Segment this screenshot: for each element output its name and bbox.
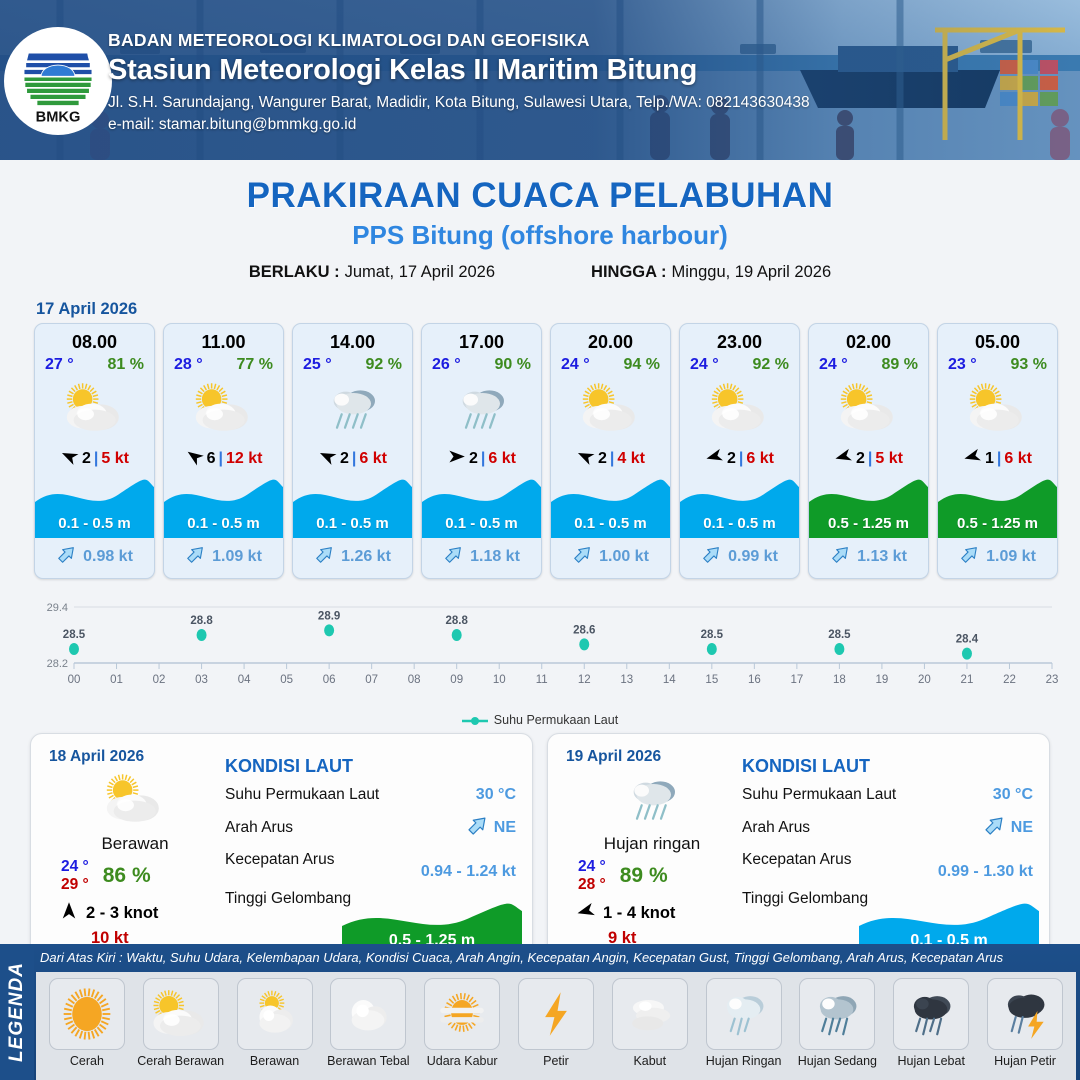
legend-item: Cerah bbox=[40, 978, 134, 1068]
wind-direction-arrow-icon bbox=[834, 447, 853, 471]
legend-side-title: LEGENDA bbox=[0, 944, 34, 1080]
day-condition: Berawan bbox=[49, 834, 221, 854]
card-temp-hum: 24 ° 89 % bbox=[809, 353, 928, 374]
wind-direction-value: 2 bbox=[727, 450, 736, 468]
day-temp-max: 29 ° bbox=[61, 876, 89, 894]
wind-direction-value: 6 bbox=[207, 450, 216, 468]
wind-direction-arrow-icon bbox=[447, 447, 466, 471]
wave-height-value: 0.5 - 1.25 m bbox=[938, 515, 1057, 532]
day-wind-range: 1 - 4 knot bbox=[603, 904, 675, 923]
current-speed-value: 1.26 kt bbox=[341, 548, 391, 566]
card-temperature: 23 ° bbox=[948, 356, 977, 374]
card-time: 20.00 bbox=[551, 332, 670, 353]
svg-text:09: 09 bbox=[450, 674, 463, 686]
svg-text:20: 20 bbox=[918, 674, 931, 686]
wind-separator: | bbox=[610, 450, 614, 468]
bmkg-logo-icon: BMKG bbox=[15, 38, 101, 124]
legend-sun-cloud-more-icon bbox=[237, 978, 313, 1050]
legend-item-label: Cerah bbox=[70, 1054, 104, 1068]
card-temp-hum: 28 ° 77 % bbox=[164, 353, 283, 374]
day-temp-min: 24 ° bbox=[61, 858, 89, 876]
weather-sun-cloud-icon bbox=[680, 376, 799, 440]
svg-text:19: 19 bbox=[876, 674, 889, 686]
berlaku-label: BERLAKU : bbox=[249, 263, 340, 281]
bmkg-logo: BMKG bbox=[4, 27, 112, 135]
card-temperature: 28 ° bbox=[174, 356, 203, 374]
wind-separator: | bbox=[481, 450, 485, 468]
current-direction-arrow-icon bbox=[983, 813, 1007, 842]
svg-text:13: 13 bbox=[620, 674, 633, 686]
sst-chart-svg: 29.428.200010203040506070809101112131415… bbox=[22, 593, 1058, 711]
card-wind: 2 | 5 kt bbox=[35, 446, 154, 472]
legend-item: Hujan Ringan bbox=[697, 978, 791, 1068]
card-time: 05.00 bbox=[938, 332, 1057, 353]
current-speed-value: 0.98 kt bbox=[83, 548, 133, 566]
card-temp-hum: 24 ° 92 % bbox=[680, 353, 799, 374]
sst-chart: 29.428.200010203040506070809101112131415… bbox=[22, 593, 1058, 711]
card-current: 1.18 kt bbox=[422, 543, 541, 570]
current-direction-value: NE bbox=[494, 819, 516, 837]
berlaku-group: BERLAKU :Jumat, 17 April 2026 bbox=[249, 263, 495, 282]
card-current: 1.26 kt bbox=[293, 543, 412, 570]
card-humidity: 81 % bbox=[108, 356, 144, 374]
forecast-card: 08.00 27 ° 81 % 2 | 5 kt 0.1 - 0.5 m bbox=[34, 323, 155, 579]
wind-gust-value: 6 kt bbox=[746, 450, 774, 468]
current-speed-value: 1.18 kt bbox=[470, 548, 520, 566]
day-humidity: 89 % bbox=[620, 864, 668, 888]
current-speed-value: 0.99 - 1.30 kt bbox=[938, 863, 1033, 880]
wind-direction-value: 2 bbox=[598, 450, 607, 468]
wind-direction-value: 1 bbox=[985, 450, 994, 468]
forecast-card: 17.00 26 ° 90 % 2 | 6 kt 0.1 - 0.5 m 1 bbox=[421, 323, 542, 579]
current-direction-label: Arah Arus bbox=[225, 819, 293, 837]
card-humidity: 92 % bbox=[753, 356, 789, 374]
legend-item-label: Hujan Sedang bbox=[798, 1054, 877, 1068]
wind-separator: | bbox=[218, 450, 222, 468]
card-humidity: 94 % bbox=[624, 356, 660, 374]
current-speed-value: 0.99 kt bbox=[728, 548, 778, 566]
current-speed-value: 0.94 - 1.24 kt bbox=[421, 863, 516, 880]
forecast-card: 23.00 24 ° 92 % 2 | 6 kt 0.1 - 0.5 m bbox=[679, 323, 800, 579]
legend-side-title-text: LEGENDA bbox=[6, 962, 28, 1062]
card-wind: 2 | 6 kt bbox=[293, 446, 412, 472]
card-temp-hum: 25 ° 92 % bbox=[293, 353, 412, 374]
current-direction-arrow-icon bbox=[443, 543, 465, 570]
legend-light-rain-icon bbox=[706, 978, 782, 1050]
current-speed-value: 1.09 kt bbox=[986, 548, 1036, 566]
current-speed-label: Kecepatan Arus bbox=[225, 851, 334, 869]
day-temp-min: 24 ° bbox=[578, 858, 606, 876]
card-time: 23.00 bbox=[680, 332, 799, 353]
forecast-card-row: 08.00 27 ° 81 % 2 | 5 kt 0.1 - 0.5 m bbox=[0, 323, 1080, 579]
legend-item-label: Hujan Lebat bbox=[898, 1054, 965, 1068]
svg-text:23: 23 bbox=[1046, 674, 1058, 686]
svg-text:03: 03 bbox=[195, 674, 208, 686]
day-wind: 1 - 4 knot bbox=[566, 901, 738, 926]
hingga-label: HINGGA : bbox=[591, 263, 666, 281]
card-humidity: 93 % bbox=[1011, 356, 1047, 374]
svg-text:18: 18 bbox=[833, 674, 846, 686]
day-summary-row: 18 April 2026 Berawan 24 ° 29 ° 86 % bbox=[0, 727, 1080, 981]
legend-item: Cerah Berawan bbox=[134, 978, 228, 1068]
svg-text:28.8: 28.8 bbox=[446, 615, 469, 627]
day-temp-max: 28 ° bbox=[578, 876, 606, 894]
wind-separator: | bbox=[352, 450, 356, 468]
wave-height-value: 0.1 - 0.5 m bbox=[551, 515, 670, 532]
card-time: 17.00 bbox=[422, 332, 541, 353]
card-humidity: 77 % bbox=[237, 356, 273, 374]
svg-text:04: 04 bbox=[238, 674, 251, 686]
legend-fog-icon bbox=[612, 978, 688, 1050]
card-wind: 2 | 5 kt bbox=[809, 446, 928, 472]
weather-sun-cloud-icon bbox=[49, 768, 221, 830]
sst-value: 30 °C bbox=[993, 786, 1033, 804]
wind-gust-value: 5 kt bbox=[875, 450, 903, 468]
wind-direction-arrow-icon bbox=[59, 901, 79, 926]
legend-sun-icon bbox=[49, 978, 125, 1050]
legend-item-label: Udara Kabur bbox=[427, 1054, 498, 1068]
card-current: 1.09 kt bbox=[164, 543, 283, 570]
current-direction-arrow-icon bbox=[830, 543, 852, 570]
legend-item-label: Hujan Petir bbox=[994, 1054, 1056, 1068]
legend-haze-icon bbox=[424, 978, 500, 1050]
legend-heavy-rain-icon bbox=[893, 978, 969, 1050]
svg-text:12: 12 bbox=[578, 674, 591, 686]
legend-lightning-icon bbox=[518, 978, 594, 1050]
wind-separator: | bbox=[868, 450, 872, 468]
svg-text:28.2: 28.2 bbox=[47, 658, 68, 670]
legend-item: Hujan Sedang bbox=[791, 978, 885, 1068]
svg-text:28.4: 28.4 bbox=[956, 634, 979, 646]
card-wind: 2 | 4 kt bbox=[551, 446, 670, 472]
wave-height-value: 0.1 - 0.5 m bbox=[680, 515, 799, 532]
current-speed-value: 1.00 kt bbox=[599, 548, 649, 566]
card-wind: 2 | 6 kt bbox=[422, 446, 541, 472]
wind-direction-arrow-icon bbox=[60, 447, 79, 471]
svg-text:05: 05 bbox=[280, 674, 293, 686]
card-current: 0.98 kt bbox=[35, 543, 154, 570]
validity-row: BERLAKU :Jumat, 17 April 2026 HINGGA :Mi… bbox=[0, 263, 1080, 282]
card-time: 08.00 bbox=[35, 332, 154, 353]
svg-text:28.5: 28.5 bbox=[701, 629, 724, 641]
wave-height-value: 0.1 - 0.5 m bbox=[422, 515, 541, 532]
sst-row: Suhu Permukaan Laut 30 °C bbox=[742, 786, 1033, 804]
hingga-value: Minggu, 19 April 2026 bbox=[672, 263, 832, 281]
wave-height-value: 0.1 - 0.5 m bbox=[293, 515, 412, 532]
sea-conditions-title: KONDISI LAUT bbox=[742, 756, 1033, 777]
svg-text:17: 17 bbox=[790, 674, 803, 686]
svg-text:08: 08 bbox=[408, 674, 421, 686]
wind-gust-value: 5 kt bbox=[101, 450, 129, 468]
hingga-group: HINGGA :Minggu, 19 April 2026 bbox=[591, 263, 831, 282]
wave-height-value: 0.1 - 0.5 m bbox=[164, 515, 283, 532]
day-condition: Hujan ringan bbox=[566, 834, 738, 854]
wind-separator: | bbox=[94, 450, 98, 468]
svg-text:02: 02 bbox=[153, 674, 166, 686]
card-temperature: 24 ° bbox=[561, 356, 590, 374]
day-date: 18 April 2026 bbox=[49, 748, 221, 766]
legend-item-label: Berawan Tebal bbox=[327, 1054, 409, 1068]
card-time: 14.00 bbox=[293, 332, 412, 353]
legend-cloud-icon bbox=[330, 978, 406, 1050]
current-speed-label: Kecepatan Arus bbox=[742, 851, 851, 869]
weather-sun-cloud-icon bbox=[938, 376, 1057, 440]
legend-item: Hujan Petir bbox=[978, 978, 1072, 1068]
card-temperature: 24 ° bbox=[819, 356, 848, 374]
card-time: 02.00 bbox=[809, 332, 928, 353]
card-wind: 6 | 12 kt bbox=[164, 446, 283, 472]
chart-legend-label: Suhu Permukaan Laut bbox=[494, 713, 618, 727]
legend-item: Berawan Tebal bbox=[321, 978, 415, 1068]
current-direction-label: Arah Arus bbox=[742, 819, 810, 837]
svg-text:28.8: 28.8 bbox=[190, 615, 213, 627]
legend-moderate-rain-icon bbox=[799, 978, 875, 1050]
legend-sun-cloud-icon bbox=[143, 978, 219, 1050]
legend-item: Berawan bbox=[228, 978, 322, 1068]
current-direction-row: Arah Arus NE bbox=[742, 813, 1033, 842]
chart-legend-marker bbox=[462, 715, 488, 725]
wave-height-label: Tinggi Gelombang bbox=[225, 890, 351, 908]
card-current: 1.00 kt bbox=[551, 543, 670, 570]
svg-text:28.6: 28.6 bbox=[573, 624, 595, 636]
weather-sun-cloud-icon bbox=[164, 376, 283, 440]
legend-item-label: Petir bbox=[543, 1054, 569, 1068]
current-direction-group: NE bbox=[983, 813, 1033, 842]
sst-row: Suhu Permukaan Laut 30 °C bbox=[225, 786, 516, 804]
wind-gust-value: 12 kt bbox=[226, 450, 262, 468]
legend-item: Hujan Lebat bbox=[884, 978, 978, 1068]
current-speed-value: 1.09 kt bbox=[212, 548, 262, 566]
station-email: e-mail: stamar.bitung@bmmkg.go.id bbox=[108, 116, 810, 134]
page-subtitle: PPS Bitung (offshore harbour) bbox=[0, 220, 1080, 251]
forecast-card: 20.00 24 ° 94 % 2 | 4 kt 0.1 - 0.5 m bbox=[550, 323, 671, 579]
legend-item-label: Hujan Ringan bbox=[706, 1054, 782, 1068]
card-temperature: 24 ° bbox=[690, 356, 719, 374]
current-direction-arrow-icon bbox=[701, 543, 723, 570]
svg-text:14: 14 bbox=[663, 674, 676, 686]
svg-text:28.5: 28.5 bbox=[63, 629, 86, 641]
wave-height-label: Tinggi Gelombang bbox=[742, 890, 868, 908]
card-temp-hum: 23 ° 93 % bbox=[938, 353, 1057, 374]
wind-direction-value: 2 bbox=[340, 450, 349, 468]
legend-item-label: Berawan bbox=[250, 1054, 299, 1068]
station-address: Jl. S.H. Sarundajang, Wangurer Barat, Ma… bbox=[108, 94, 810, 112]
current-direction-arrow-icon bbox=[314, 543, 336, 570]
legend-item-label: Cerah Berawan bbox=[137, 1054, 224, 1068]
page-title: PRAKIRAAN CUACA PELABUHAN bbox=[0, 176, 1080, 216]
wind-direction-value: 2 bbox=[856, 450, 865, 468]
card-humidity: 90 % bbox=[495, 356, 531, 374]
legend-item: Kabut bbox=[603, 978, 697, 1068]
card-humidity: 92 % bbox=[366, 356, 402, 374]
header-text-block: BADAN METEOROLOGI KLIMATOLOGI DAN GEOFIS… bbox=[108, 30, 810, 134]
wind-direction-arrow-icon bbox=[963, 447, 982, 471]
wind-gust-value: 4 kt bbox=[617, 450, 645, 468]
card-temp-hum: 26 ° 90 % bbox=[422, 353, 541, 374]
agency-name: BADAN METEOROLOGI KLIMATOLOGI DAN GEOFIS… bbox=[108, 30, 810, 51]
day-temp-column: 24 ° 28 ° bbox=[578, 858, 606, 894]
card-temperature: 25 ° bbox=[303, 356, 332, 374]
card-wind: 1 | 6 kt bbox=[938, 446, 1057, 472]
wind-direction-arrow-icon bbox=[185, 447, 204, 471]
day-humidity: 86 % bbox=[103, 864, 151, 888]
svg-text:22: 22 bbox=[1003, 674, 1016, 686]
current-direction-arrow-icon bbox=[466, 813, 490, 842]
current-direction-arrow-icon bbox=[185, 543, 207, 570]
legend-item-label: Kabut bbox=[633, 1054, 666, 1068]
day-date: 19 April 2026 bbox=[566, 748, 738, 766]
card-current: 1.13 kt bbox=[809, 543, 928, 570]
wind-gust-value: 6 kt bbox=[488, 450, 516, 468]
svg-text:28.5: 28.5 bbox=[828, 629, 851, 641]
legend-item-row: Cerah Cerah Berawan Berawan Berawan Teba… bbox=[36, 972, 1076, 1080]
svg-text:21: 21 bbox=[961, 674, 974, 686]
current-direction-arrow-icon bbox=[959, 543, 981, 570]
sst-label: Suhu Permukaan Laut bbox=[742, 786, 896, 804]
wind-direction-arrow-icon bbox=[576, 447, 595, 471]
current-direction-row: Arah Arus NE bbox=[225, 813, 516, 842]
wind-direction-arrow-icon bbox=[318, 447, 337, 471]
sst-label: Suhu Permukaan Laut bbox=[225, 786, 379, 804]
svg-text:29.4: 29.4 bbox=[47, 602, 68, 614]
current-direction-group: NE bbox=[466, 813, 516, 842]
wind-direction-arrow-icon bbox=[576, 901, 596, 926]
chart-legend: Suhu Permukaan Laut bbox=[0, 713, 1080, 727]
legend-note: Dari Atas Kiri : Waktu, Suhu Udara, Kele… bbox=[40, 950, 1074, 965]
svg-text:11: 11 bbox=[536, 674, 548, 686]
card-temperature: 27 ° bbox=[45, 356, 74, 374]
forecast-card: 11.00 28 ° 77 % 6 | 12 kt 0.1 - 0.5 m bbox=[163, 323, 284, 579]
current-direction-value: NE bbox=[1011, 819, 1033, 837]
svg-text:10: 10 bbox=[493, 674, 506, 686]
current-speed-value: 1.13 kt bbox=[857, 548, 907, 566]
card-current: 1.09 kt bbox=[938, 543, 1057, 570]
legend-thunderstorm-icon bbox=[987, 978, 1063, 1050]
weather-sun-cloud-icon bbox=[35, 376, 154, 440]
svg-text:07: 07 bbox=[365, 674, 378, 686]
forecast-card: 05.00 23 ° 93 % 1 | 6 kt 0.5 - 1.25 m bbox=[937, 323, 1058, 579]
day-wind: 2 - 3 knot bbox=[49, 901, 221, 926]
day-temps: 24 ° 28 ° 89 % bbox=[566, 858, 738, 894]
wind-separator: | bbox=[739, 450, 743, 468]
wind-direction-value: 2 bbox=[82, 450, 91, 468]
wind-separator: | bbox=[997, 450, 1001, 468]
page-header: BMKG BADAN METEOROLOGI KLIMATOLOGI DAN G… bbox=[0, 0, 1080, 160]
card-temp-hum: 24 ° 94 % bbox=[551, 353, 670, 374]
card-temperature: 26 ° bbox=[432, 356, 461, 374]
wave-height-value: 0.1 - 0.5 m bbox=[35, 515, 154, 532]
svg-text:15: 15 bbox=[705, 674, 718, 686]
legend-item: Petir bbox=[509, 978, 603, 1068]
weather-rain-icon bbox=[422, 376, 541, 440]
wind-gust-value: 6 kt bbox=[359, 450, 387, 468]
forecast-card: 02.00 24 ° 89 % 2 | 5 kt 0.5 - 1.25 m bbox=[808, 323, 929, 579]
card-wind: 2 | 6 kt bbox=[680, 446, 799, 472]
weather-sun-cloud-icon bbox=[809, 376, 928, 440]
day-temps: 24 ° 29 ° 86 % bbox=[49, 858, 221, 894]
title-section: PRAKIRAAN CUACA PELABUHAN PPS Bitung (of… bbox=[0, 160, 1080, 282]
card-time: 11.00 bbox=[164, 332, 283, 353]
svg-text:16: 16 bbox=[748, 674, 761, 686]
sea-conditions-title: KONDISI LAUT bbox=[225, 756, 516, 777]
weather-rain-icon bbox=[566, 768, 738, 830]
current-direction-arrow-icon bbox=[572, 543, 594, 570]
svg-text:00: 00 bbox=[68, 674, 81, 686]
weather-rain-icon bbox=[293, 376, 412, 440]
forecast-card: 14.00 25 ° 92 % 2 | 6 kt 0.1 - 0.5 m 1 bbox=[292, 323, 413, 579]
wind-direction-value: 2 bbox=[469, 450, 478, 468]
legend-section: LEGENDA Dari Atas Kiri : Waktu, Suhu Uda… bbox=[0, 944, 1080, 1080]
current-direction-arrow-icon bbox=[56, 543, 78, 570]
card-current: 0.99 kt bbox=[680, 543, 799, 570]
svg-text:06: 06 bbox=[323, 674, 336, 686]
svg-text:01: 01 bbox=[110, 674, 123, 686]
wind-gust-value: 6 kt bbox=[1004, 450, 1032, 468]
bmkg-logo-text: BMKG bbox=[36, 109, 81, 124]
legend-item: Udara Kabur bbox=[415, 978, 509, 1068]
card-humidity: 89 % bbox=[882, 356, 918, 374]
weather-sun-cloud-icon bbox=[551, 376, 670, 440]
card-temp-hum: 27 ° 81 % bbox=[35, 353, 154, 374]
forecast-date-label: 17 April 2026 bbox=[36, 300, 1080, 319]
berlaku-value: Jumat, 17 April 2026 bbox=[345, 263, 495, 281]
wind-direction-arrow-icon bbox=[705, 447, 724, 471]
sst-value: 30 °C bbox=[476, 786, 516, 804]
wave-height-value: 0.5 - 1.25 m bbox=[809, 515, 928, 532]
station-name: Stasiun Meteorologi Kelas II Maritim Bit… bbox=[108, 54, 810, 87]
day-wind-range: 2 - 3 knot bbox=[86, 904, 158, 923]
day-temp-column: 24 ° 29 ° bbox=[61, 858, 89, 894]
svg-text:28.9: 28.9 bbox=[318, 610, 340, 622]
